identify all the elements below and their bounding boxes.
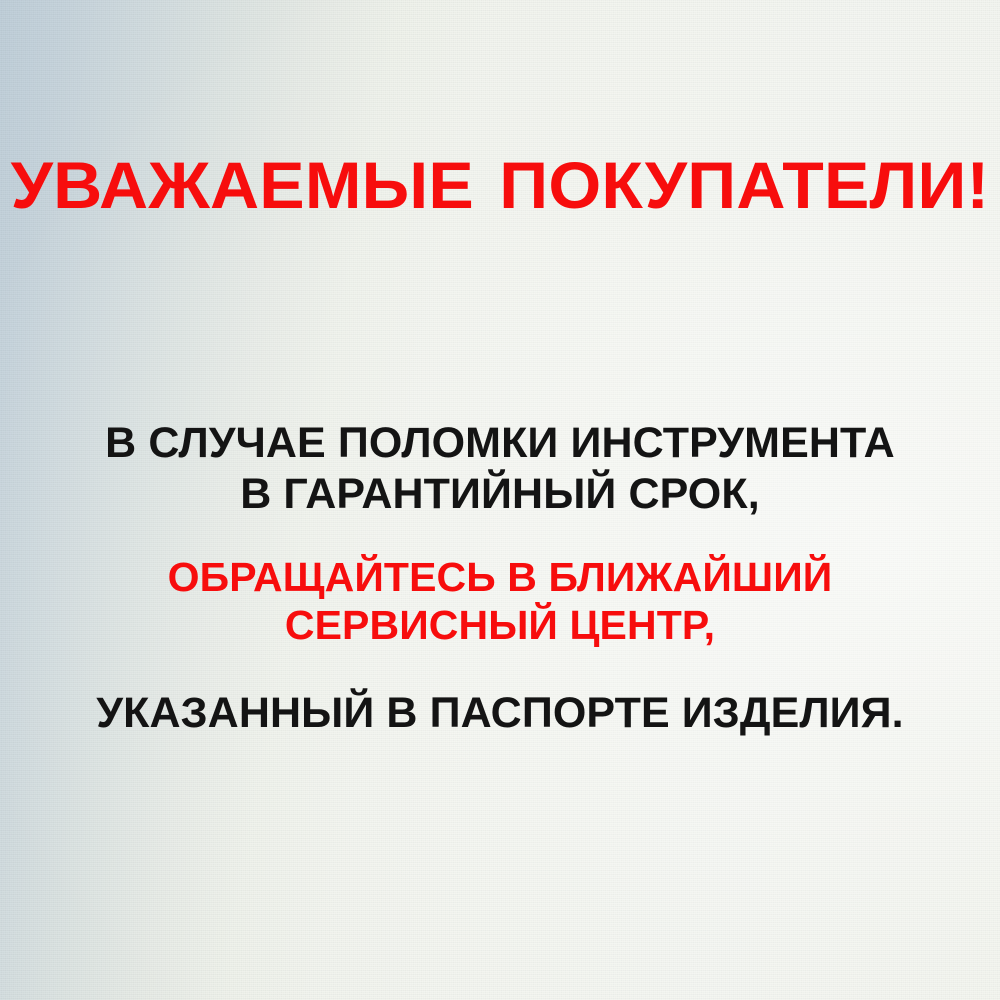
notice-paragraph-warranty-condition: В СЛУЧАЕ ПОЛОМКИ ИНСТРУМЕНТА В ГАРАНТИЙН…: [0, 418, 1000, 519]
notice-poster: УВАЖАЕМЫЕ ПОКУПАТЕЛИ! В СЛУЧАЕ ПОЛОМКИ И…: [0, 0, 1000, 1000]
notice-paragraph-passport-reference: УКАЗАННЫЙ В ПАСПОРТЕ ИЗДЕЛИЯ.: [0, 688, 1000, 739]
notice-paragraph-service-center-call-to-action: ОБРАЩАЙТЕСЬ В БЛИЖАЙШИЙ СЕРВИСНЫЙ ЦЕНТР,: [0, 553, 1000, 650]
poster-content: УВАЖАЕМЫЕ ПОКУПАТЕЛИ! В СЛУЧАЕ ПОЛОМКИ И…: [0, 0, 1000, 1000]
page-title: УВАЖАЕМЫЕ ПОКУПАТЕЛИ!: [0, 152, 1000, 218]
